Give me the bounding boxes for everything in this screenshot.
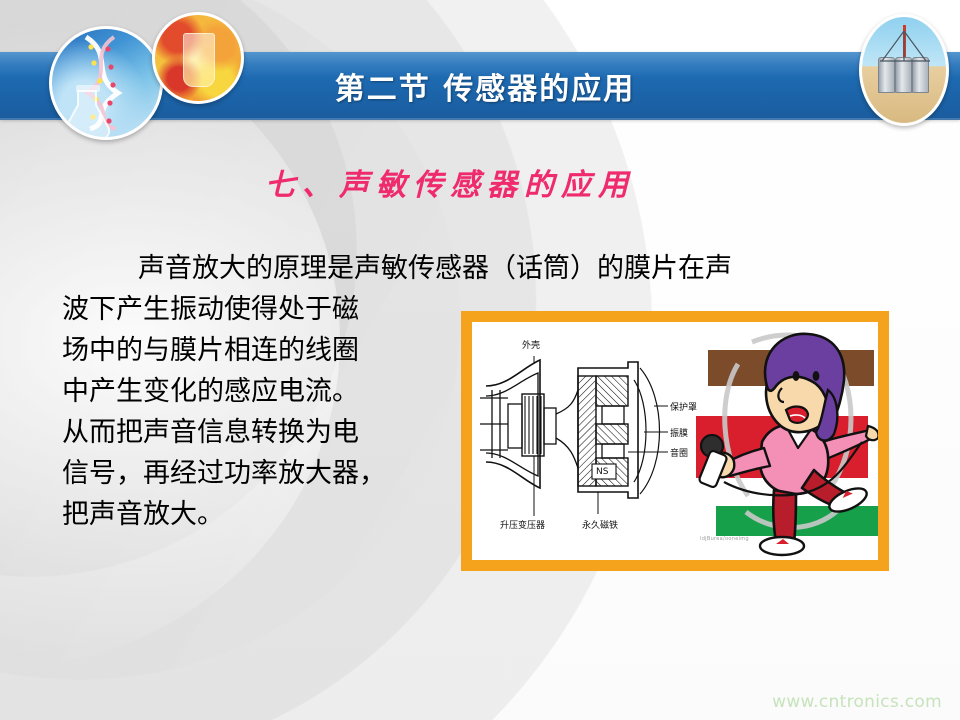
diagram-label-shell: 外壳 xyxy=(522,338,540,351)
body-line: 声音放大的原理是声敏传感器（话筒）的膜片在声 xyxy=(62,248,898,289)
juice-glass-icon xyxy=(183,33,215,87)
singer-with-microphone-icon xyxy=(690,330,878,558)
grain-silo-photo-icon xyxy=(859,14,949,126)
fruit-juice-photo-icon xyxy=(152,12,244,104)
diagram-label-ns-poles: NS xyxy=(596,467,608,477)
dna-lab-photo-icon xyxy=(49,26,163,140)
diagram-label-permanent-magnet: 永久磁铁 xyxy=(582,518,618,531)
microphone-cross-section-diagram: 外壳 保护罩 振膜 音圈 升压变压器 永久磁铁 NS xyxy=(478,328,684,552)
illustration-watermark: ldjBurea/ooneimg xyxy=(700,536,749,542)
body-lines-left-column: 波下产生振动使得处于磁 场中的与膜片相连的线圈 中产生变化的感应电流。 从而把声… xyxy=(62,289,452,535)
body-line: 把声音放大。 xyxy=(62,494,452,535)
body-line: 信号，再经过功率放大器， xyxy=(62,453,452,494)
flask-icon xyxy=(52,29,160,137)
diagram-label-step-up-transformer: 升压变压器 xyxy=(500,518,545,531)
diagram-label-voice-coil: 音圈 xyxy=(670,446,688,459)
slide-root: 第二节 传感器的应用 七、声敏传感器的应用 声音放大的 xyxy=(0,0,960,720)
figure-content: 外壳 保护罩 振膜 音圈 升压变压器 永久磁铁 NS xyxy=(472,322,878,560)
body-line: 场中的与膜片相连的线圈 xyxy=(62,330,452,371)
body-line: 从而把声音信息转换为电 xyxy=(62,412,452,453)
body-line: 波下产生振动使得处于磁 xyxy=(62,289,452,330)
silo-rigging-icon xyxy=(862,17,946,123)
diagram-label-diaphragm: 振膜 xyxy=(670,426,688,439)
singer-illustration xyxy=(690,330,878,558)
footer-url: www.cntronics.com xyxy=(772,692,942,712)
body-line: 中产生变化的感应电流。 xyxy=(62,371,452,412)
section-heading: 七、声敏传感器的应用 xyxy=(0,160,900,204)
figure-frame: 外壳 保护罩 振膜 音圈 升压变压器 永久磁铁 NS xyxy=(461,311,889,571)
